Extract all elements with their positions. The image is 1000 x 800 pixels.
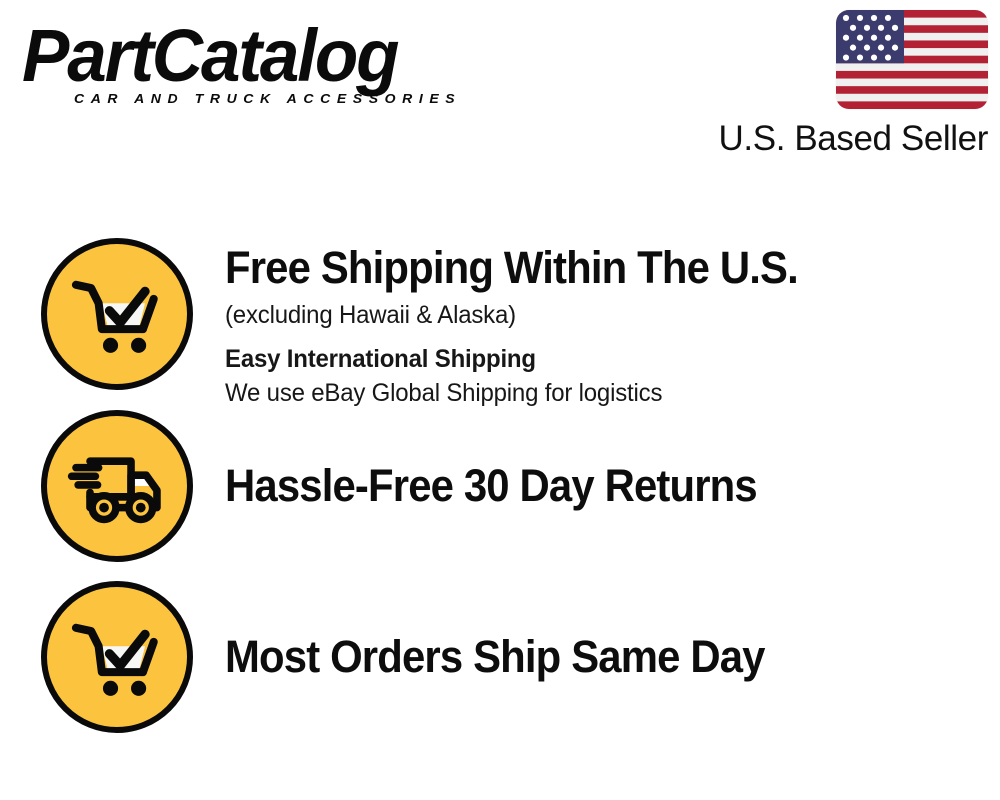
benefit-text-block: Hassle-Free 30 Day Returns (193, 462, 1000, 511)
benefit-subline-exclusion: (excluding Hawaii & Alaska) (225, 299, 969, 332)
benefit-text-block: Free Shipping Within The U.S. (excluding… (193, 238, 1000, 410)
benefit-title: Free Shipping Within The U.S. (225, 244, 946, 293)
shopping-cart-check-icon (41, 581, 193, 733)
shopping-cart-check-icon (41, 238, 193, 390)
benefit-title: Most Orders Ship Same Day (225, 633, 946, 682)
brand-wordmark: PartCatalog (22, 22, 473, 90)
us-flag-icon (836, 10, 988, 109)
benefit-text-block: Most Orders Ship Same Day (193, 633, 1000, 682)
us-based-seller-badge: U.S. Based Seller (708, 10, 988, 158)
delivery-truck-icon (41, 410, 193, 562)
brand-tagline: CAR AND TRUCK ACCESSORIES (74, 90, 461, 105)
promo-banner: PartCatalog CAR AND TRUCK ACCESSORIES (0, 0, 1000, 800)
benefit-subline-logistics: We use eBay Global Shipping for logistic… (225, 377, 969, 410)
benefit-item-free-shipping: Free Shipping Within The U.S. (excluding… (0, 238, 1000, 410)
brand-logo: PartCatalog CAR AND TRUCK ACCESSORIES (22, 22, 492, 112)
benefit-title: Hassle-Free 30 Day Returns (225, 462, 946, 511)
benefit-subline-international: Easy International Shipping (225, 343, 969, 376)
benefit-item-same-day: Most Orders Ship Same Day (0, 581, 1000, 733)
us-based-seller-label: U.S. Based Seller (708, 121, 988, 158)
banner-header: PartCatalog CAR AND TRUCK ACCESSORIES (0, 0, 1000, 175)
benefit-item-returns: Hassle-Free 30 Day Returns (0, 410, 1000, 562)
